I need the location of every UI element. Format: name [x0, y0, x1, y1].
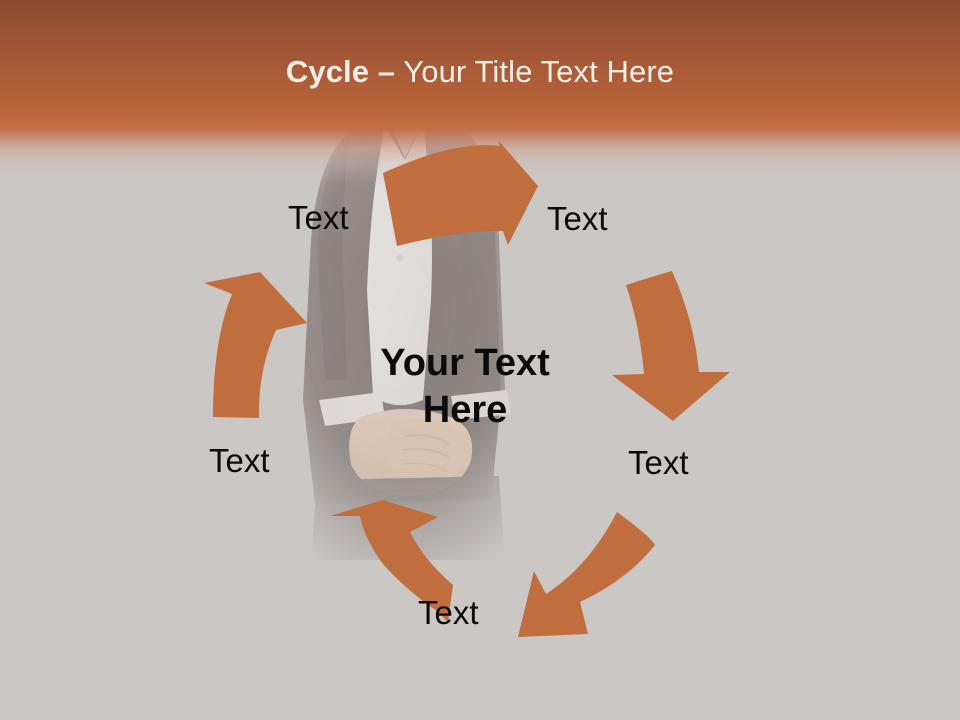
cycle-center-text-line-1: Your Text: [330, 340, 600, 387]
cycle-node-label-right: Text: [628, 444, 689, 482]
cycle-node-label-bottom: Text: [418, 594, 479, 632]
cycle-center-text-line-2: Here: [330, 387, 600, 434]
arrow-top-icon[interactable]: [383, 140, 538, 246]
arrow-right-icon[interactable]: [612, 271, 730, 421]
cycle-node-label-top-right: Text: [547, 200, 608, 238]
arrow-bottom-right-icon[interactable]: [518, 512, 655, 637]
cycle-node-label-top-left: Text: [288, 199, 349, 237]
cycle-node-label-left: Text: [209, 442, 270, 480]
slide-canvas: Cycle – Your Title Text Here Text Text T…: [0, 0, 960, 720]
arrow-left-icon[interactable]: [204, 272, 307, 418]
cycle-center-text: Your Text Here: [330, 340, 600, 434]
